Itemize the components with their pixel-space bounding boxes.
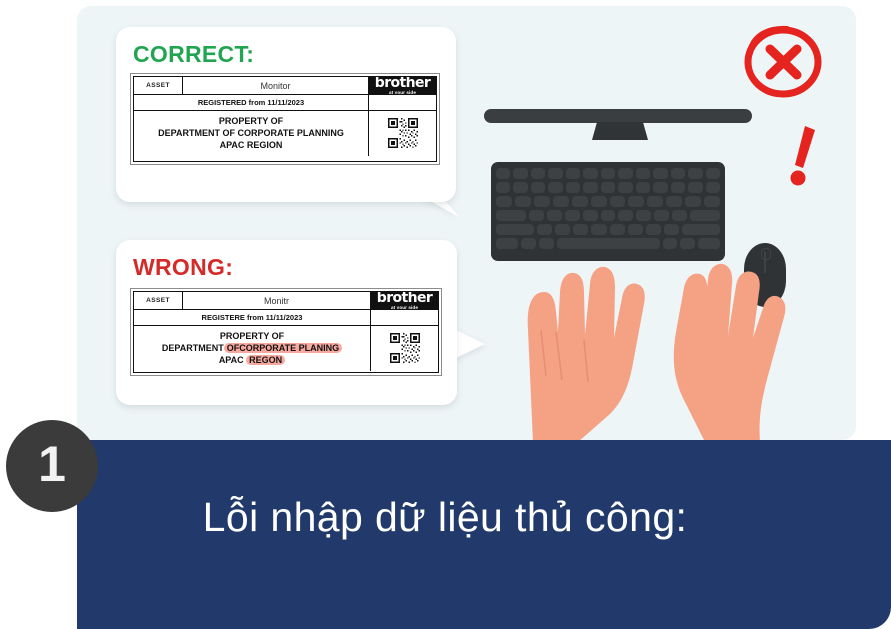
brand-name: brother	[377, 292, 432, 305]
body-line-3: APAC REGION	[136, 140, 366, 152]
brand-spacer	[371, 310, 438, 325]
asset-header-cell: ASSET	[134, 292, 183, 309]
asset-label-wrong: ASSET Monitr brother at your side REGIST…	[130, 288, 442, 376]
brand-spacer	[369, 95, 436, 110]
label-row-body: PROPERTY OF DEPARTMENTOFCORPORATE PLANIN…	[134, 325, 438, 371]
step-number-badge: 1	[6, 420, 98, 512]
label-row-registered: REGISTERED from 11/11/2023	[134, 94, 436, 110]
wrong-speech-bubble: WRONG: ASSET Monitr brother at your side…	[116, 240, 457, 405]
circled-x-icon	[741, 23, 825, 101]
body-line-2-error-highlight: OFCORPORATE PLANING	[224, 343, 342, 353]
key	[531, 168, 545, 179]
qr-code-cell	[369, 111, 436, 156]
asset-label-correct: ASSET Monitor brother at your side REGIS…	[130, 73, 440, 165]
body-line-3: APAC REGON	[136, 355, 368, 367]
body-line-1: PROPERTY OF	[136, 116, 366, 128]
monitor-icon	[484, 109, 752, 123]
asset-type-cell: Monitr	[183, 292, 371, 309]
illustration-root: CORRECT: ASSET Monitor brother at your s…	[0, 0, 891, 629]
key	[688, 168, 702, 179]
qr-code-icon	[390, 333, 420, 363]
registered-cell: REGISTERED from 11/11/2023	[134, 95, 369, 110]
label-row-registered: REGISTERE from 11/11/2023	[134, 309, 438, 325]
property-body-cell: PROPERTY OF DEPARTMENTOFCORPORATE PLANIN…	[134, 326, 371, 371]
correct-speech-bubble: CORRECT: ASSET Monitor brother at your s…	[116, 27, 456, 202]
qr-code-icon	[388, 118, 418, 148]
brand-tagline: at your side	[389, 91, 416, 94]
correct-heading: CORRECT:	[133, 41, 254, 68]
key	[706, 168, 720, 179]
qr-code-cell	[371, 326, 438, 371]
brand-logo-cell: brother at your side	[369, 77, 436, 94]
wrong-heading: WRONG:	[133, 254, 233, 281]
brand-name: brother	[375, 77, 430, 90]
body-line-2-prefix: DEPARTMENT	[162, 343, 224, 353]
body-line-2: DEPARTMENTOFCORPORATE PLANING	[136, 343, 368, 355]
brand-logo-cell: brother at your side	[371, 292, 438, 309]
asset-header-cell: ASSET	[134, 77, 183, 94]
key	[653, 168, 667, 179]
asset-type-cell: Monitor	[183, 77, 369, 94]
typing-hands-icon	[470, 180, 800, 442]
brother-logo-icon: brother at your side	[371, 292, 438, 309]
key	[671, 168, 685, 179]
exclamation-icon	[790, 124, 816, 186]
body-line-3-error-highlight: REGON	[246, 355, 285, 365]
key	[496, 168, 510, 179]
caption-band: Lỗi nhập dữ liệu thủ công:	[77, 440, 891, 629]
asset-label-inner: ASSET Monitor brother at your side REGIS…	[133, 76, 437, 162]
monitor-stand-icon	[592, 122, 648, 140]
label-row-type: ASSET Monitor brother at your side	[134, 77, 436, 94]
caption-text: Lỗi nhập dữ liệu thủ công:	[77, 494, 813, 541]
key	[566, 168, 580, 179]
body-line-2: DEPARTMENT OF CORPORATE PLANNING	[136, 128, 366, 140]
body-line-1: PROPERTY OF	[136, 331, 368, 343]
brother-logo-icon: brother at your side	[369, 77, 436, 94]
property-body-cell: PROPERTY OF DEPARTMENT OF CORPORATE PLAN…	[134, 111, 369, 156]
label-row-type: ASSET Monitr brother at your side	[134, 292, 438, 309]
step-number: 1	[38, 439, 66, 489]
key	[636, 168, 650, 179]
label-row-body: PROPERTY OF DEPARTMENT OF CORPORATE PLAN…	[134, 110, 436, 156]
body-line-3-prefix: APAC	[219, 355, 244, 365]
asset-label-inner: ASSET Monitr brother at your side REGIST…	[133, 291, 439, 373]
key	[618, 168, 632, 179]
brand-tagline: at your side	[391, 306, 418, 309]
registered-cell: REGISTERE from 11/11/2023	[134, 310, 371, 325]
keyboard-row	[496, 168, 720, 179]
key	[513, 168, 527, 179]
key	[583, 168, 597, 179]
key	[548, 168, 562, 179]
key	[601, 168, 615, 179]
